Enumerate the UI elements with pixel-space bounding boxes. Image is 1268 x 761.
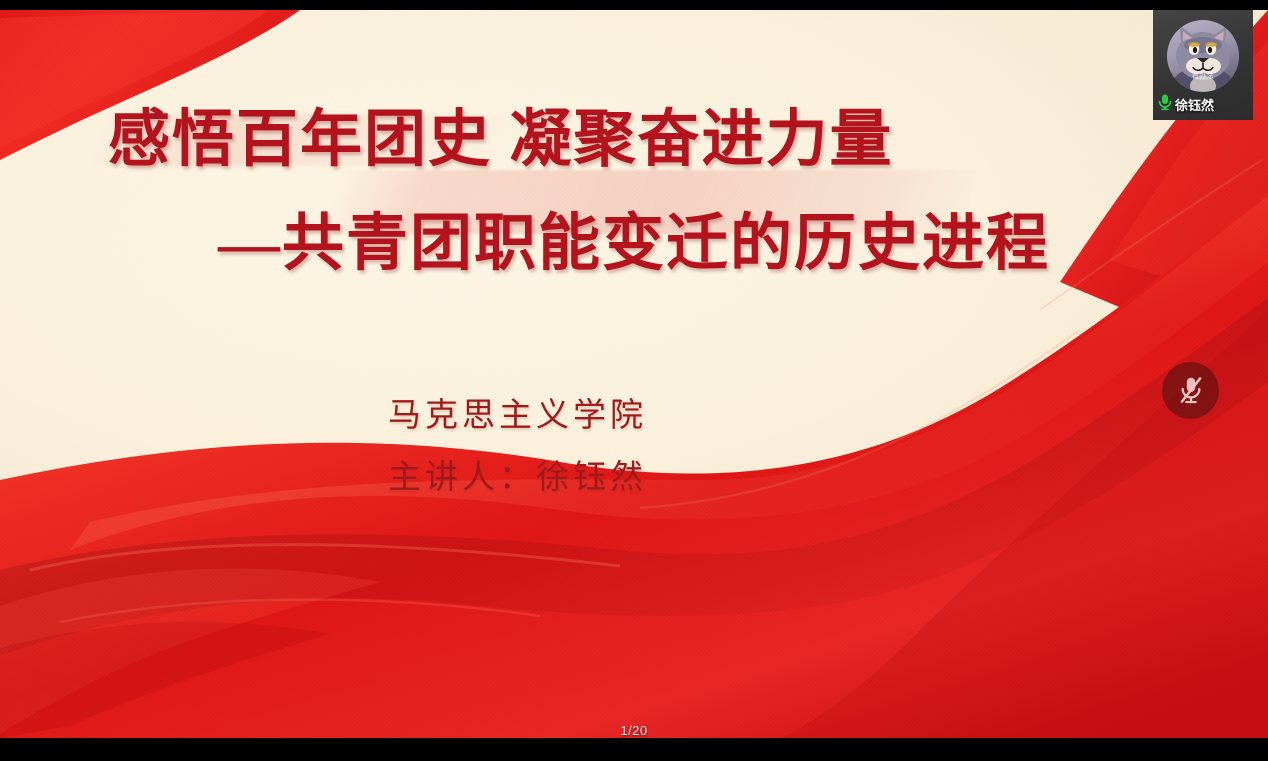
microphone-muted-icon [1176, 375, 1206, 407]
slide-organization: 马克思主义学院 [388, 388, 647, 436]
letterbox-bottom [0, 738, 1268, 761]
self-mute-button[interactable] [1162, 362, 1219, 419]
page-indicator: 1/20 [0, 723, 1268, 738]
participant-video-tile[interactable]: 有办法 徐钰然 [1153, 10, 1253, 120]
slide-title-line-1: 感悟百年团史 凝聚奋进力量 [108, 102, 894, 178]
avatar-caption: 有办法 [1167, 71, 1239, 81]
participant-name: 徐钰然 [1175, 95, 1214, 114]
presentation-viewer: 感悟百年团史 凝聚奋进力量 —共青团职能变迁的历史进程 马克思主义学院 主讲人：… [0, 0, 1268, 761]
slide-title-line-2: —共青团职能变迁的历史进程 [218, 206, 1050, 282]
slide-canvas[interactable]: 感悟百年团史 凝聚奋进力量 —共青团职能变迁的历史进程 马克思主义学院 主讲人：… [0, 10, 1268, 738]
letterbox-top [0, 0, 1268, 10]
microphone-unmuted-icon [1157, 93, 1173, 116]
avatar: 有办法 [1167, 20, 1239, 92]
slide-presenter: 主讲人：徐钰然 [388, 450, 647, 498]
tile-footer: 徐钰然 [1157, 93, 1214, 116]
